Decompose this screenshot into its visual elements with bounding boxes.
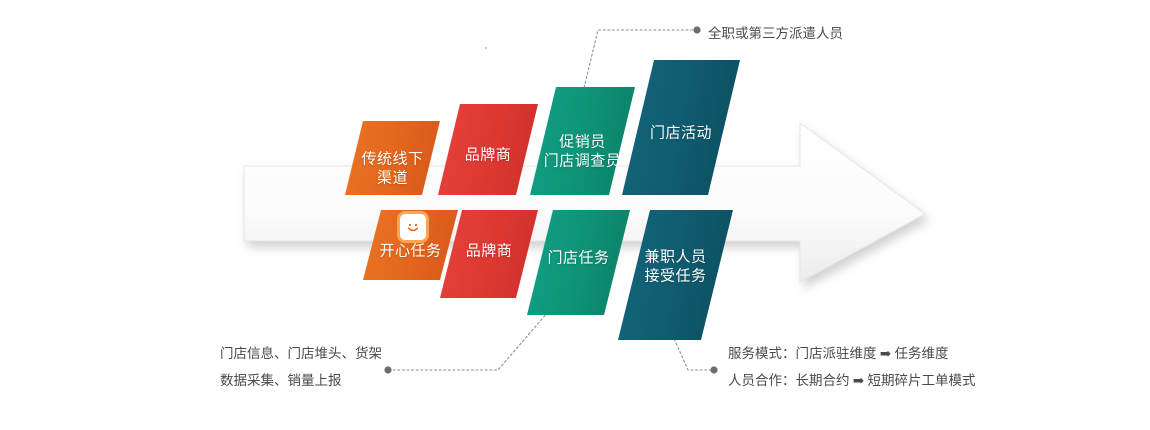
- annotation-bottom-left: 门店信息、门店堆头、货架 数据采集、销量上报: [220, 340, 382, 394]
- stray-speck: [485, 47, 487, 49]
- step-label: 门店活动: [650, 123, 712, 142]
- annotation-top-right: 全职或第三方派遣人员: [708, 20, 843, 47]
- step-label: 品牌商: [465, 145, 512, 164]
- leader-line-bottom-left: [384, 312, 548, 374]
- step-label: 门店任务: [547, 248, 609, 267]
- step-label: 传统线下 渠道: [361, 150, 423, 188]
- smiley-icon: [400, 214, 426, 240]
- step-label: 品牌商: [466, 242, 513, 261]
- leader-dot-bottom-left: [384, 366, 391, 373]
- step-label: 兼职人员 接受任务: [644, 247, 706, 285]
- step-label: 促销员 门店调查员: [544, 133, 622, 171]
- leader-dot-top-right: [693, 26, 700, 33]
- diagram-canvas: 传统线下 渠道 品牌商 促销员 门店调查员 门店活动 开心任务 品牌商 门店任务…: [0, 0, 1150, 430]
- leader-dot-bottom-right: [710, 366, 717, 373]
- annotation-bottom-right: 服务模式：门店派驻维度 ➡ 任务维度 人员合作：长期合约 ➡ 短期碎片工单模式: [728, 340, 976, 394]
- step-label: 开心任务: [379, 242, 441, 261]
